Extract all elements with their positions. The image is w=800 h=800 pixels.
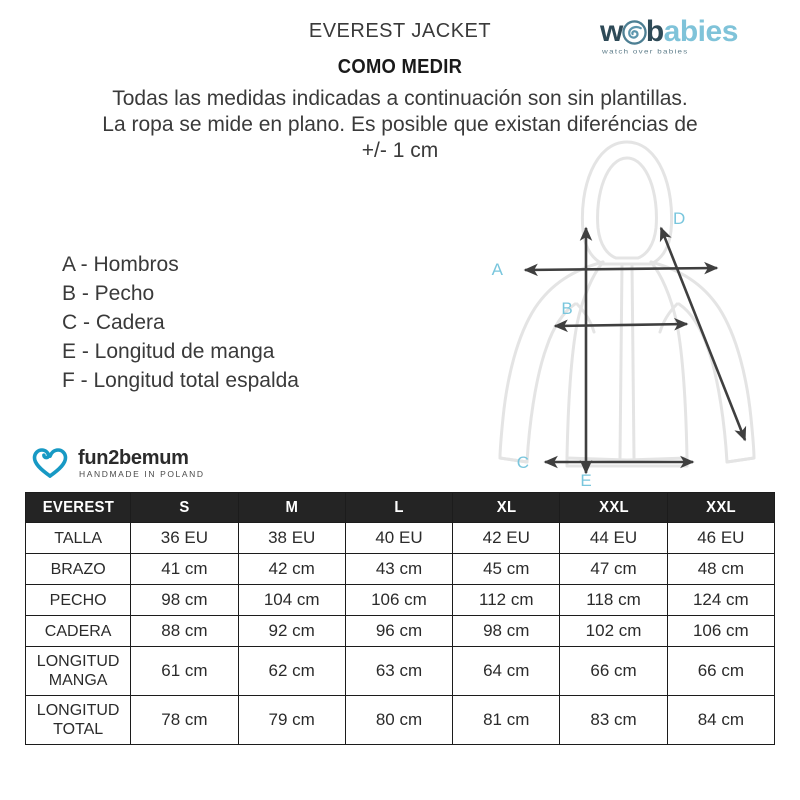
cell-longitud-total-l: 80 cm [345, 696, 452, 745]
cell-cadera-m: 92 cm [238, 616, 345, 647]
fun2bemum-wordmark: fun2bemum [78, 447, 189, 470]
cell-longitud-manga-xl: 64 cm [453, 647, 560, 696]
wobabies-wordmark: w babies [600, 16, 738, 48]
fun2bemum-logo: fun2bemum HANDMADE IN POLAND [32, 445, 232, 485]
cell-longitud-total-xxl-2: 84 cm [667, 696, 774, 745]
diagram-label-d: D [673, 209, 685, 228]
swirl-icon [622, 20, 647, 45]
diagram-label-c: C [517, 453, 529, 472]
row-label-line-2: MANGA [26, 671, 130, 690]
table-row: LONGITUD MANGA 61 cm 62 cm 63 cm 64 cm 6… [26, 647, 775, 696]
cell-brazo-l: 43 cm [345, 554, 452, 585]
cell-brazo-xxl-1: 47 cm [560, 554, 667, 585]
diagram-label-a: A [492, 260, 504, 279]
row-label-line-1: LONGITUD [37, 653, 120, 670]
row-label-pecho: PECHO [26, 585, 131, 616]
fun2bemum-tagline: HANDMADE IN POLAND [79, 469, 205, 479]
cell-pecho-xxl-1: 118 cm [560, 585, 667, 616]
cell-cadera-xl: 98 cm [453, 616, 560, 647]
cell-brazo-s: 41 cm [131, 554, 238, 585]
cell-longitud-manga-s: 61 cm [131, 647, 238, 696]
wobabies-tagline: watch over babies [602, 48, 689, 56]
cell-talla-s: 36 EU [131, 523, 238, 554]
row-label-longitud-total: LONGITUD TOTAL [26, 696, 131, 745]
cell-pecho-xxl-2: 124 cm [667, 585, 774, 616]
cell-talla-l: 40 EU [345, 523, 452, 554]
row-label-brazo: BRAZO [26, 554, 131, 585]
cell-talla-xl: 42 EU [453, 523, 560, 554]
cell-longitud-manga-xxl-2: 66 cm [667, 647, 774, 696]
legend-item-c: C - Cadera [62, 308, 299, 337]
cell-longitud-total-xxl-1: 83 cm [560, 696, 667, 745]
cell-brazo-xl: 45 cm [453, 554, 560, 585]
table-header-xxl-1: XXL [560, 493, 667, 523]
cell-brazo-m: 42 cm [238, 554, 345, 585]
table-row: LONGITUD TOTAL 78 cm 79 cm 80 cm 81 cm 8… [26, 696, 775, 745]
arrow-a-shoulders [525, 268, 717, 270]
arrow-b-chest [555, 324, 687, 326]
row-label-line-1: LONGITUD [37, 702, 120, 719]
cell-cadera-l: 96 cm [345, 616, 452, 647]
cell-pecho-xl: 112 cm [453, 585, 560, 616]
cell-pecho-s: 98 cm [131, 585, 238, 616]
wobabies-letters-abies: abies [664, 15, 738, 48]
cell-pecho-l: 106 cm [345, 585, 452, 616]
table-header-everest: EVEREST [26, 493, 131, 523]
table-row: PECHO 98 cm 104 cm 106 cm 112 cm 118 cm … [26, 585, 775, 616]
row-label-longitud-manga: LONGITUD MANGA [26, 647, 131, 696]
cell-longitud-manga-m: 62 cm [238, 647, 345, 696]
cell-longitud-total-m: 79 cm [238, 696, 345, 745]
table-row: CADERA 88 cm 92 cm 96 cm 98 cm 102 cm 10… [26, 616, 775, 647]
intro-line-1: Todas las medidas indicadas a continuaci… [40, 86, 760, 112]
table-header-s: S [131, 493, 238, 523]
cell-longitud-manga-l: 63 cm [345, 647, 452, 696]
cell-cadera-xxl-1: 102 cm [560, 616, 667, 647]
cell-talla-m: 38 EU [238, 523, 345, 554]
cell-cadera-s: 88 cm [131, 616, 238, 647]
cell-pecho-m: 104 cm [238, 585, 345, 616]
wobabies-logo: w babies watch over babies [600, 16, 780, 62]
cell-talla-xxl-2: 46 EU [667, 523, 774, 554]
table-header-xxl-2: XXL [667, 493, 774, 523]
size-table: EVEREST S M L XL XXL XXL TALLA 36 EU 38 … [25, 492, 775, 745]
cell-talla-xxl-1: 44 EU [560, 523, 667, 554]
size-table-wrapper: EVEREST S M L XL XXL XXL TALLA 36 EU 38 … [25, 492, 775, 745]
legend-item-b: B - Pecho [62, 279, 299, 308]
row-label-cadera: CADERA [26, 616, 131, 647]
row-label-talla: TALLA [26, 523, 131, 554]
jacket-outline [500, 142, 754, 466]
wobabies-letter-w: w [600, 15, 623, 48]
table-header-l: L [345, 493, 452, 523]
cell-longitud-total-xl: 81 cm [453, 696, 560, 745]
table-row: TALLA 36 EU 38 EU 40 EU 42 EU 44 EU 46 E… [26, 523, 775, 554]
legend-item-a: A - Hombros [62, 250, 299, 279]
cell-brazo-xxl-2: 48 cm [667, 554, 774, 585]
row-label-line-2: TOTAL [26, 720, 130, 739]
legend-item-f: F - Longitud total espalda [62, 366, 299, 395]
legend-item-e: E - Longitud de manga [62, 337, 299, 366]
cell-cadera-xxl-2: 106 cm [667, 616, 774, 647]
diagram-label-e: E [580, 471, 591, 488]
table-header-xl: XL [453, 493, 560, 523]
measurement-legend: A - Hombros B - Pecho C - Cadera E - Lon… [62, 250, 299, 395]
table-row: BRAZO 41 cm 42 cm 43 cm 45 cm 47 cm 48 c… [26, 554, 775, 585]
diagram-label-b: B [561, 299, 572, 318]
jacket-diagram: A B C D E [455, 128, 800, 488]
table-header-row: EVEREST S M L XL XXL XXL [26, 493, 775, 523]
table-header-m: M [238, 493, 345, 523]
wobabies-letter-b: b [646, 15, 664, 48]
heart-icon [32, 447, 68, 479]
cell-longitud-manga-xxl-1: 66 cm [560, 647, 667, 696]
cell-longitud-total-s: 78 cm [131, 696, 238, 745]
